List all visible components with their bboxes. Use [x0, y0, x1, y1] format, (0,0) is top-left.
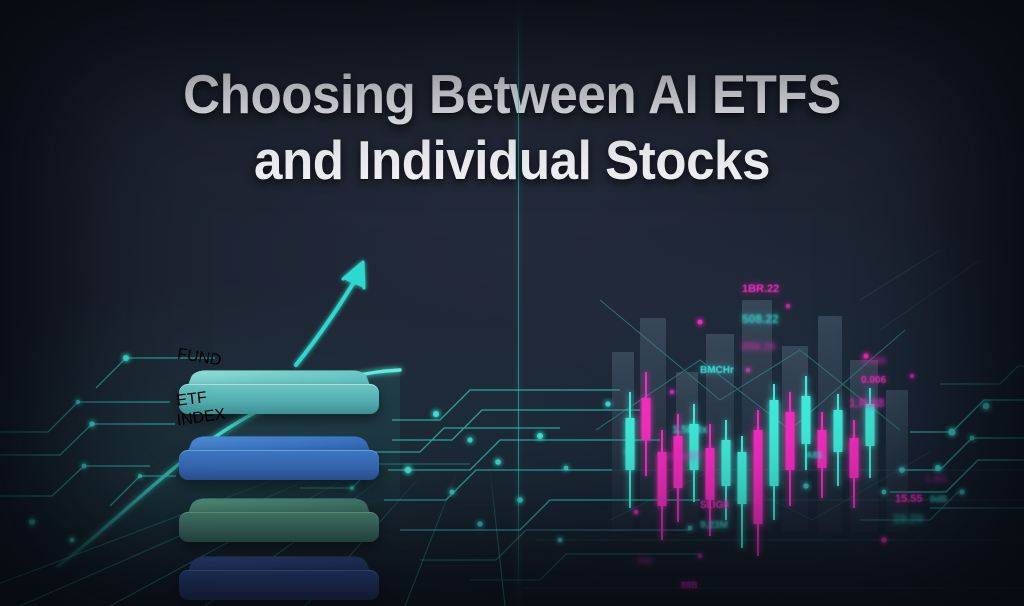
price-label: 1.R.88 — [849, 396, 884, 410]
price-label-group: 1BR.22508.22888.26BMCHr1.5B3xF9G8TTSLIG8… — [0, 0, 1024, 606]
price-label: 15.55 — [895, 493, 923, 505]
price-label: 88B — [681, 580, 698, 590]
price-label: A81 — [806, 450, 823, 460]
hero-banner: Choosing Between AI ETFS and Individual … — [0, 0, 1024, 606]
price-label: 243 — [637, 556, 652, 566]
price-label: 1.5B3x — [672, 424, 707, 436]
price-label: 1.261 — [925, 474, 948, 484]
price-label: F9G8TT — [665, 452, 702, 463]
price-label: 1BR.22 — [742, 283, 779, 295]
price-label: 0.006 — [861, 375, 886, 386]
price-label: 1.968 — [861, 356, 886, 367]
price-label: 19.29 — [893, 512, 923, 526]
price-label: 508.22 — [742, 312, 779, 326]
price-label: 888.26 — [742, 341, 776, 353]
price-label: 9.23M — [700, 520, 728, 531]
price-label: BMCHr — [700, 365, 734, 376]
price-label: SLIG8 — [700, 500, 729, 511]
center-divider-line — [518, 0, 519, 606]
price-label: 0dB — [930, 494, 947, 504]
